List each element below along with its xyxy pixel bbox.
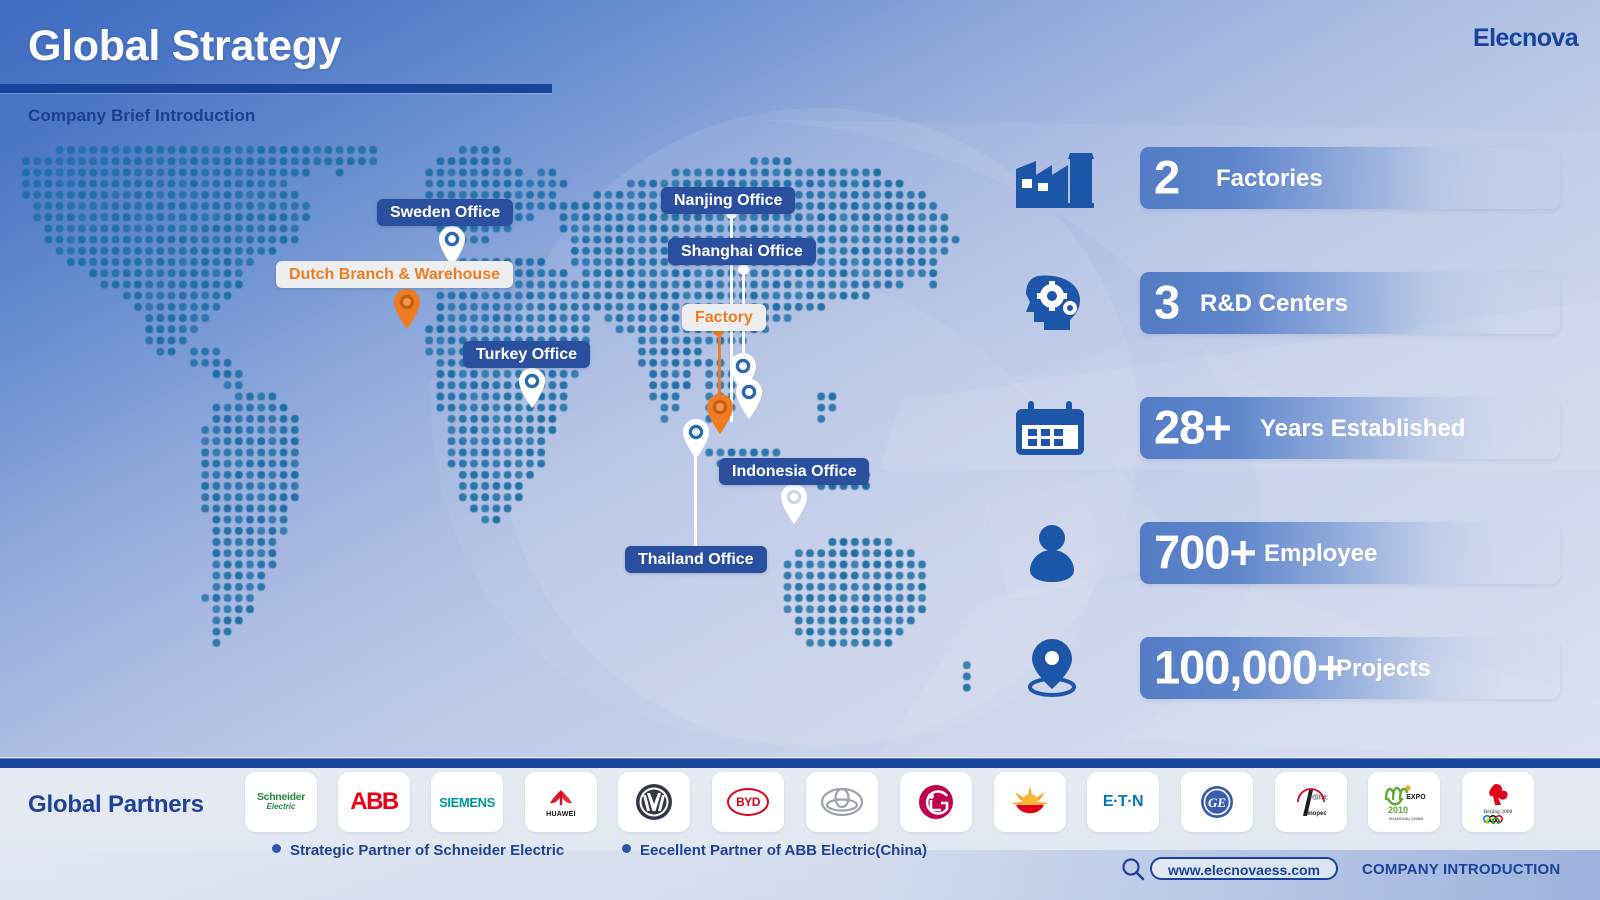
- partner-tile-byd[interactable]: BYD: [712, 772, 784, 832]
- bullet-dot-icon: [272, 844, 281, 853]
- pin-thailand[interactable]: [681, 418, 711, 460]
- stat-label-rd-centers: R&D Centers: [1200, 290, 1348, 318]
- map-label-factory[interactable]: Factory: [682, 304, 766, 331]
- factory-icon: [1008, 147, 1100, 209]
- title-underline: [0, 84, 552, 93]
- map-label-shanghai-office[interactable]: Shanghai Office: [668, 238, 816, 265]
- stat-pill-years: 28+ Years Established: [1140, 397, 1560, 459]
- map-label-indonesia-office[interactable]: Indonesia Office: [719, 458, 869, 485]
- partner-tile-sinopec[interactable]: 中国石化 Sinopec: [1275, 772, 1347, 832]
- huawei-petal-icon: [544, 787, 578, 807]
- partner-tile-volkswagen[interactable]: [618, 772, 690, 832]
- volkswagen-logo: [634, 782, 674, 822]
- lg-logo: [917, 783, 955, 821]
- map-label-thailand-office[interactable]: Thailand Office: [625, 546, 767, 573]
- stat-label-employee: Employee: [1264, 540, 1377, 568]
- eaton-logo: E·T·N: [1103, 793, 1143, 811]
- global-partners-title: Global Partners: [28, 791, 204, 819]
- partner-note-schneider-text: Strategic Partner of Schneider Electric: [290, 842, 564, 859]
- stat-number-factories: 2: [1154, 154, 1179, 201]
- footer-divider: [0, 758, 1600, 768]
- website-url-badge[interactable]: www.elecnovaess.com: [1150, 857, 1338, 880]
- page-title: Global Strategy: [28, 22, 341, 71]
- siemens-logo: SIEMENS: [439, 795, 495, 810]
- stat-pill-rd-centers: 3 R&D Centers: [1140, 272, 1560, 334]
- map-label-turkey-office[interactable]: Turkey Office: [463, 341, 590, 368]
- map-label-nanjing-office[interactable]: Nanjing Office: [661, 187, 795, 214]
- svg-text:Beijing 2008: Beijing 2008: [1484, 809, 1513, 815]
- bullet-dot-icon: [622, 844, 631, 853]
- partner-tile-eaton[interactable]: E·T·N: [1087, 772, 1159, 832]
- partner-tile-huawei[interactable]: HUAWEI: [525, 772, 597, 832]
- partner-note-abb-text: Eecellent Partner of ABB Electric(China): [640, 842, 927, 859]
- pin-turkey[interactable]: [517, 367, 547, 409]
- stat-pill-projects: 100,000+ Projects: [1140, 637, 1560, 699]
- stat-pill-employee: 700+ Employee: [1140, 522, 1560, 584]
- stat-number-years: 28+: [1154, 404, 1231, 451]
- sinopec-logo: 中国石化 Sinopec: [1291, 782, 1331, 822]
- stat-number-employee: 700+: [1154, 529, 1256, 576]
- rd-brain-icon: [1008, 272, 1100, 334]
- slide-root: Global Strategy Company Brief Introducti…: [0, 0, 1600, 900]
- partner-tile-abb[interactable]: ABB: [338, 772, 410, 832]
- person-icon: [1008, 522, 1100, 584]
- abb-logo: ABB: [350, 788, 398, 816]
- stat-number-projects: 100,000+: [1154, 644, 1343, 691]
- calendar-icon: [1008, 397, 1100, 459]
- general-electric-logo: GE: [1199, 784, 1235, 820]
- byd-logo: BYD: [736, 795, 760, 809]
- search-icon[interactable]: [1120, 856, 1146, 882]
- svg-text:2010: 2010: [1388, 805, 1408, 815]
- petrochina-logo: [1010, 785, 1050, 819]
- connector-dot-shanghai: [738, 264, 749, 275]
- schneider-electric-sub: Electric: [257, 803, 305, 811]
- partner-tile-siemens[interactable]: SIEMENS: [431, 772, 503, 832]
- stat-pill-factories: 2 Factories: [1140, 147, 1560, 209]
- partner-tile-beijing-2008[interactable]: Beijing 2008: [1462, 772, 1534, 832]
- beijing-2008-logo: Beijing 2008: [1476, 780, 1520, 824]
- partner-tile-schneider-electric[interactable]: Schneider Electric: [245, 772, 317, 832]
- partner-note-schneider: Strategic Partner of Schneider Electric: [272, 842, 564, 859]
- stat-number-rd-centers: 3: [1154, 279, 1179, 326]
- stat-label-factories: Factories: [1216, 165, 1323, 193]
- svg-text:SHANGHAI CHINA: SHANGHAI CHINA: [1389, 816, 1424, 821]
- stat-label-years: Years Established: [1260, 415, 1465, 443]
- pin-shanghai[interactable]: [734, 378, 764, 420]
- partner-tile-lg[interactable]: [900, 772, 972, 832]
- svg-text:Sinopec: Sinopec: [1303, 811, 1327, 817]
- svg-text:中国石化: 中国石化: [1308, 794, 1328, 801]
- toyota-logo: [820, 787, 864, 817]
- pin-dutch-branch[interactable]: [392, 288, 422, 330]
- partner-tile-general-electric[interactable]: GE: [1181, 772, 1253, 832]
- pin-icon: [1008, 637, 1100, 699]
- partner-note-abb: Eecellent Partner of ABB Electric(China): [622, 842, 927, 859]
- pin-indonesia[interactable]: [779, 483, 809, 525]
- map-label-dutch-branch[interactable]: Dutch Branch & Warehouse: [276, 261, 513, 288]
- map-label-sweden-office[interactable]: Sweden Office: [377, 199, 513, 226]
- partner-tile-petrochina[interactable]: [994, 772, 1066, 832]
- section-label: COMPANY INTRODUCTION: [1362, 861, 1560, 878]
- partner-tile-expo-2010[interactable]: EXPO 2010 SHANGHAI CHINA: [1368, 772, 1440, 832]
- expo-2010-logo: EXPO 2010 SHANGHAI CHINA: [1378, 781, 1430, 823]
- huawei-logo: HUAWEI: [544, 811, 578, 818]
- elecnova-logo: Elecnova: [1473, 24, 1578, 53]
- svg-text:EXPO: EXPO: [1406, 794, 1426, 801]
- stat-label-projects: Projects: [1336, 655, 1431, 683]
- partner-tile-toyota[interactable]: [806, 772, 878, 832]
- svg-text:GE: GE: [1208, 795, 1226, 810]
